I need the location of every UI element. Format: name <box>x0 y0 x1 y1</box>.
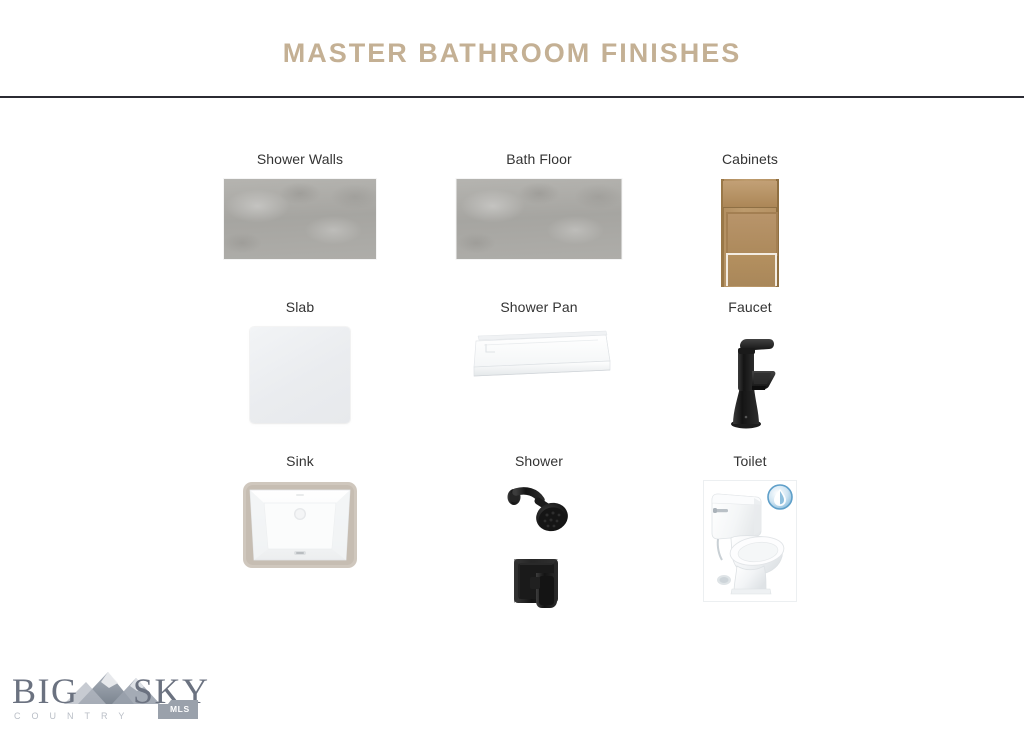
swatch-wrap <box>640 481 860 601</box>
swatch-wrap <box>190 327 410 447</box>
swatch-wrap <box>429 481 649 601</box>
finish-item-shower-pan[interactable]: Shower Pan <box>429 298 649 447</box>
swatch-inner <box>250 327 350 423</box>
logo-word-big: BIG <box>12 671 79 711</box>
swatch-inner <box>464 327 614 379</box>
swatch-inner <box>721 327 779 431</box>
finish-item-toilet[interactable]: Toilet <box>640 452 860 601</box>
finish-item-cabinets[interactable]: Cabinets <box>640 150 860 299</box>
cabinet-door-panel <box>726 212 778 256</box>
finish-row: Slab Shower Pan <box>0 298 1024 448</box>
faucet-image <box>721 327 779 431</box>
slide-header: MASTER BATHROOM FINISHES <box>0 0 1024 97</box>
swatch-wrap <box>190 179 410 299</box>
slab-swatch <box>250 327 350 423</box>
page-title: MASTER BATHROOM FINISHES <box>0 38 1024 69</box>
header-divider <box>0 96 1024 98</box>
swatch-wrap <box>640 179 860 299</box>
cabinet-lower-panel <box>726 253 777 286</box>
toilet-image <box>704 481 796 601</box>
finish-item-bath-floor[interactable]: Bath Floor <box>429 150 649 299</box>
cabinet-drawer-front <box>723 181 777 208</box>
big-sky-country-mls-logo: BIG SKY COUNTRY MLS <box>8 664 218 726</box>
finish-label: Faucet <box>640 298 860 316</box>
finish-item-slab[interactable]: Slab <box>190 298 410 447</box>
finish-row: Sink <box>0 452 1024 617</box>
shower-trim-image <box>502 481 576 613</box>
swatch-wrap <box>429 179 649 299</box>
finish-label: Bath Floor <box>429 150 649 168</box>
swatch-wrap <box>190 481 410 601</box>
shower-walls-tile-swatch <box>224 179 376 259</box>
swatch-inner <box>242 481 358 569</box>
cabinet-door-swatch <box>721 179 779 287</box>
finish-item-sink[interactable]: Sink <box>190 452 410 601</box>
finish-label: Cabinets <box>640 150 860 168</box>
swatch-inner <box>721 179 779 287</box>
brand-logo[interactable]: BIG SKY COUNTRY MLS <box>8 664 218 726</box>
finish-label: Shower Walls <box>190 150 410 168</box>
swatch-wrap <box>429 327 649 447</box>
shower-pan-image <box>464 327 614 379</box>
finish-item-faucet[interactable]: Faucet <box>640 298 860 447</box>
finish-label: Toilet <box>640 452 860 470</box>
swatch-inner <box>704 481 796 601</box>
finish-label: Slab <box>190 298 410 316</box>
finish-item-shower[interactable]: Shower <box>429 452 649 601</box>
finish-label: Shower Pan <box>429 298 649 316</box>
bath-floor-tile-swatch <box>457 179 622 259</box>
logo-word-country: COUNTRY <box>14 711 135 721</box>
finish-label: Shower <box>429 452 649 470</box>
swatch-inner <box>224 179 376 259</box>
toilet-image-frame <box>704 481 796 601</box>
finish-grid: Shower Walls Bath Floor Cabinets <box>0 150 1024 640</box>
finish-label: Sink <box>190 452 410 470</box>
swatch-inner <box>457 179 622 259</box>
finish-item-shower-walls[interactable]: Shower Walls <box>190 150 410 299</box>
swatch-wrap <box>640 327 860 447</box>
finish-row: Shower Walls Bath Floor Cabinets <box>0 150 1024 290</box>
mls-badge-text: MLS <box>170 704 190 714</box>
sink-image <box>242 481 358 569</box>
swatch-inner <box>502 481 576 613</box>
